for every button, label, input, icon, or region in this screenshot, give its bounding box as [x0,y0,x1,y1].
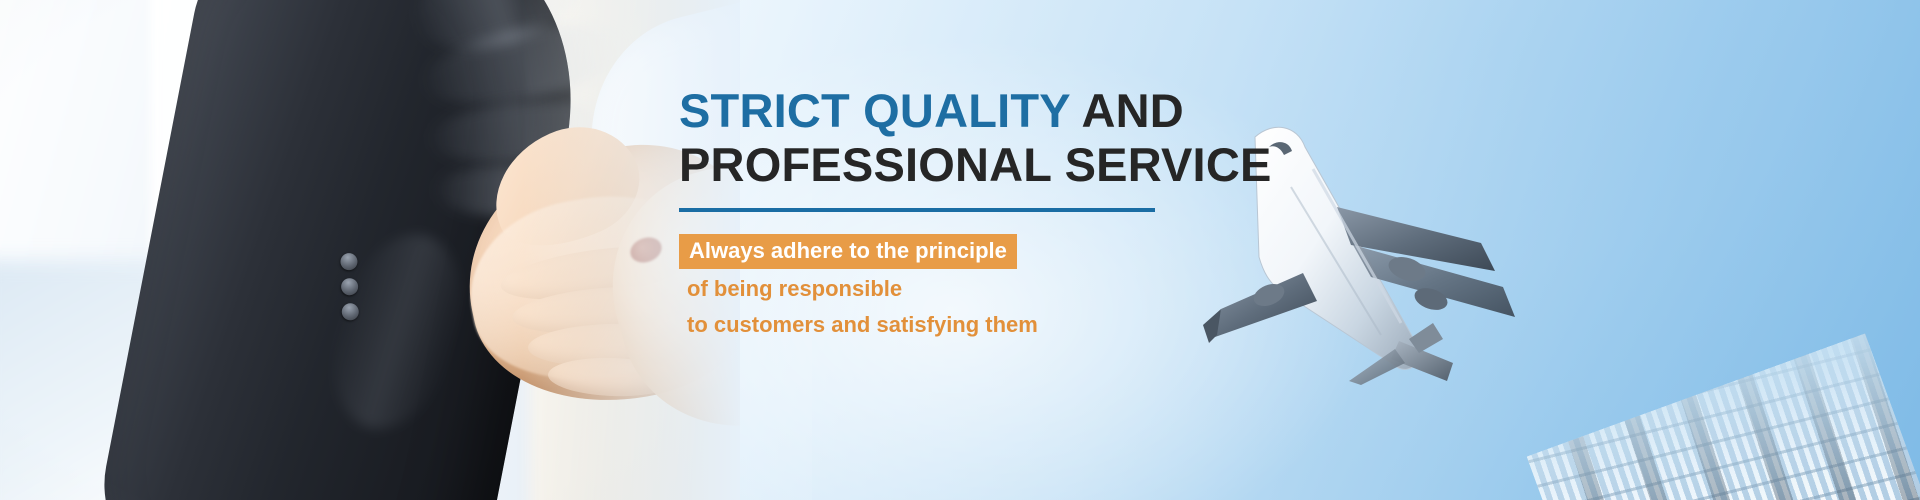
tagline-block: Always adhere to the principle of being … [679,234,1379,341]
tagline-line-3: to customers and satisfying them [679,309,1379,341]
facade-fade [1527,333,1920,500]
headline-rest: AND [1070,84,1184,137]
headline-divider [679,208,1155,212]
headline-line-2: PROFESSIONAL SERVICE [679,138,1379,192]
banner-content: STRICT QUALITY AND PROFESSIONAL SERVICE … [679,84,1379,341]
hero-banner: STRICT QUALITY AND PROFESSIONAL SERVICE … [0,0,1920,500]
tagline-line-2: of being responsible [679,273,1379,305]
tagline-highlight: Always adhere to the principle [679,234,1017,269]
building-facade [1527,333,1920,500]
headline-highlight: STRICT QUALITY [679,84,1070,137]
headline-line-1: STRICT QUALITY AND [679,84,1379,138]
